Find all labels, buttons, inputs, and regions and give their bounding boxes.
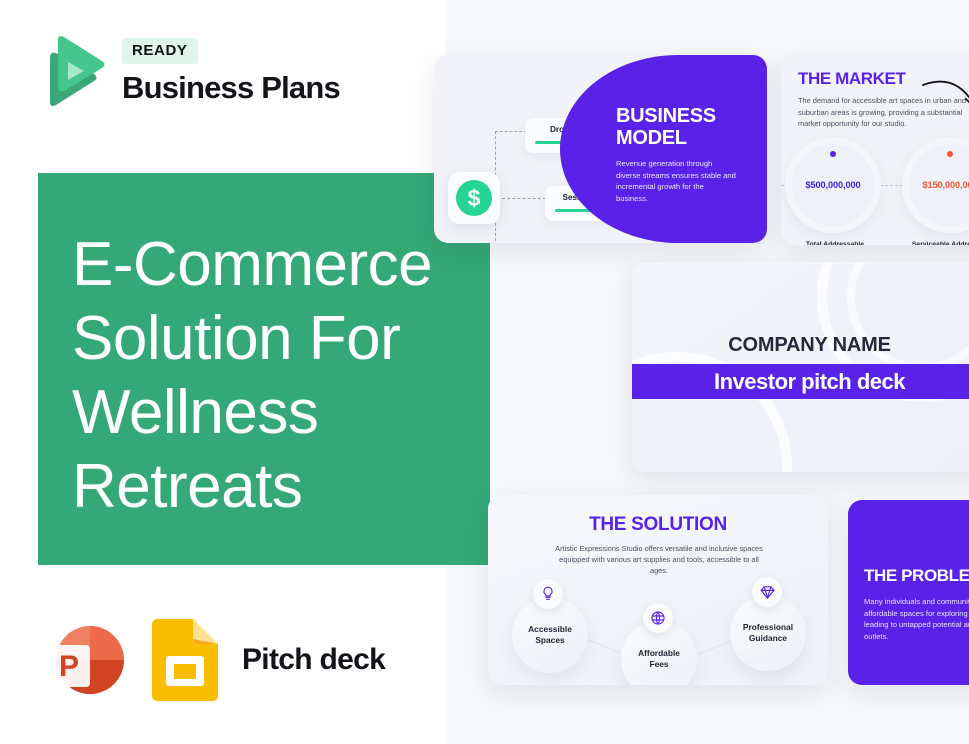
pillar-label: Accessible Spaces [528,624,572,646]
slide-business-model[interactable]: $ Drop-in Fees Session Workshops Commiss… [434,55,767,243]
connector-line-mid [502,198,546,199]
slide-heading: THE MARKET [798,69,905,89]
brand-logo[interactable]: READY Business Plans [44,34,344,118]
market-metric[interactable]: $500,000,000 Total Addressable Market (T… [785,137,885,245]
metric-ring: $150,000,000 [902,137,969,233]
powerpoint-icon: P [44,619,126,701]
page-title: E-Commerce Solution For Wellness Retreat… [72,228,492,524]
slide-description: Many individuals and communities lack ac… [864,596,969,642]
slide-cover[interactable]: COMPANY NAME Investor pitch deck [632,262,969,472]
connector-line-top-h [495,131,527,132]
slide-heading: THE PROBLEM [864,566,969,586]
pillar-connector [695,639,734,656]
cover-subtitle-band: Investor pitch deck [632,364,969,399]
slide-description: Artistic Expressions Studio offers versa… [550,543,768,576]
slide-description: Revenue generation through diverse strea… [616,158,736,204]
market-metric[interactable]: $150,000,000 Serviceable Addressable Mar… [902,137,969,245]
company-name: COMPANY NAME [632,334,969,357]
format-row: P Pitch deck [44,618,385,702]
metric-dot [830,151,836,157]
brand-name: Business Plans [122,70,340,106]
metric-dot [947,151,953,157]
cover-subtitle: Investor pitch deck [714,369,905,395]
diamond-icon [752,577,782,607]
metric-value: $150,000,000 [922,180,969,190]
svg-text:P: P [59,650,79,683]
slide-the-problem[interactable]: THE PROBLEM Many individuals and communi… [848,500,969,685]
metric-value: $500,000,000 [805,180,860,190]
sphere-icon [643,603,673,633]
pillar-label: Affordable Fees [638,648,680,670]
curved-arrow-icon [921,69,969,117]
metric-ring: $500,000,000 [785,137,881,233]
play-logo-icon [44,36,106,108]
dollar-sign-icon: $ [448,172,500,224]
google-slides-icon [152,619,218,701]
brand-badge: READY [122,38,198,64]
slide-heading: BUSINESS MODEL [616,105,716,149]
metric-caption: Total Addressable Market (TAM) [785,240,885,245]
dollar-symbol: $ [456,180,492,216]
metric-caption: Serviceable Addressable Market (SAM) [902,240,969,245]
slide-heading: THE SOLUTION [488,514,828,536]
market-metrics: $500,000,000 Total Addressable Market (T… [781,137,969,245]
slide-the-market[interactable]: THE MARKET The demand for accessible art… [781,55,969,245]
format-label: Pitch deck [242,643,385,677]
lightbulb-icon [533,579,563,609]
pillar-label: Professional Guidance [743,622,793,644]
slide-the-solution[interactable]: THE SOLUTION Artistic Expressions Studio… [488,495,828,685]
